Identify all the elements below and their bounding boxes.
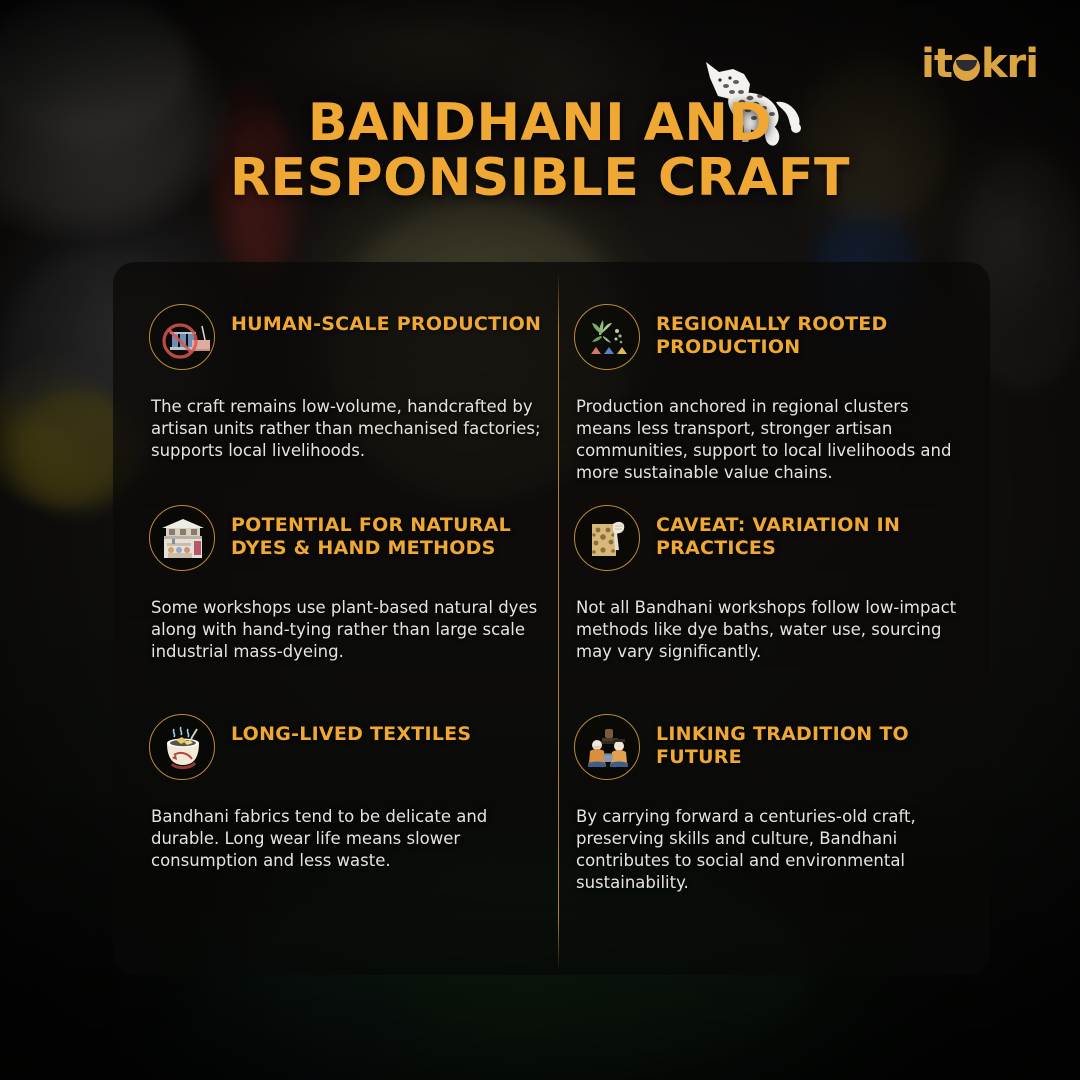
- card-long-lived-textiles: LONG-LIVED TEXTILES Bandhani fabrics ten…: [149, 714, 549, 872]
- main-title-line1: BANDHANI AND: [308, 93, 772, 153]
- card-title: POTENTIAL FOR NATURAL DYES & HAND METHOD…: [231, 505, 549, 560]
- card-header: CAVEAT: VARIATION IN PRACTICES: [574, 505, 974, 571]
- card-body-text: The craft remains low-volume, handcrafte…: [149, 396, 541, 462]
- card-title: LONG-LIVED TEXTILES: [231, 714, 471, 746]
- card-header: LINKING TRADITION TO FUTURE: [574, 714, 974, 780]
- card-title: LINKING TRADITION TO FUTURE: [656, 714, 974, 769]
- card-header: LONG-LIVED TEXTILES: [149, 714, 549, 780]
- main-title: BANDHANI ANDRESPONSIBLE CRAFT: [0, 96, 1080, 206]
- brand-logo-text-part1: it: [921, 41, 952, 87]
- steaming-dye-pot-icon: [149, 714, 215, 780]
- card-header: REGIONALLY ROOTED PRODUCTION: [574, 304, 974, 370]
- card-body-text: Bandhani fabrics tend to be delicate and…: [149, 806, 541, 872]
- page-title: BANDHANI ANDRESPONSIBLE CRAFT: [0, 96, 1080, 206]
- card-human-scale-production: HUMAN-SCALE PRODUCTION The craft remains…: [149, 304, 549, 462]
- card-caveat-variation-in-practices: CAVEAT: VARIATION IN PRACTICES Not all B…: [574, 505, 974, 663]
- card-regionally-rooted-production: REGIONALLY ROOTED PRODUCTION Production …: [574, 304, 974, 484]
- brand-logo[interactable]: itkri: [921, 44, 1038, 84]
- card-title: REGIONALLY ROOTED PRODUCTION: [656, 304, 974, 359]
- brand-logo-basket-icon: [953, 54, 980, 81]
- workshop-building-icon: [149, 505, 215, 571]
- cards-grid: HUMAN-SCALE PRODUCTION The craft remains…: [113, 262, 990, 975]
- card-header: POTENTIAL FOR NATURAL DYES & HAND METHOD…: [149, 505, 549, 571]
- hand-holding-fabric-icon: [574, 505, 640, 571]
- card-header: HUMAN-SCALE PRODUCTION: [149, 304, 549, 370]
- content-panel: HUMAN-SCALE PRODUCTION The craft remains…: [113, 262, 990, 975]
- no-factory-icon: [149, 304, 215, 370]
- header: itkri B: [0, 0, 1080, 262]
- card-linking-tradition-to-future: LINKING TRADITION TO FUTURE By carrying …: [574, 714, 974, 894]
- card-body-text: By carrying forward a centuries-old craf…: [574, 806, 966, 894]
- card-title: CAVEAT: VARIATION IN PRACTICES: [656, 505, 974, 560]
- card-title: HUMAN-SCALE PRODUCTION: [231, 304, 541, 336]
- card-body-text: Some workshops use plant-based natural d…: [149, 597, 541, 663]
- card-body-text: Not all Bandhani workshops follow low-im…: [574, 597, 966, 663]
- card-natural-dyes-hand-methods: POTENTIAL FOR NATURAL DYES & HAND METHOD…: [149, 505, 549, 663]
- seedling-dye-plants-icon: [574, 304, 640, 370]
- main-title-line2: RESPONSIBLE CRAFT: [230, 148, 850, 208]
- two-artisans-icon: [574, 714, 640, 780]
- card-body-text: Production anchored in regional clusters…: [574, 396, 966, 484]
- brand-logo-text-part2: kri: [981, 41, 1038, 87]
